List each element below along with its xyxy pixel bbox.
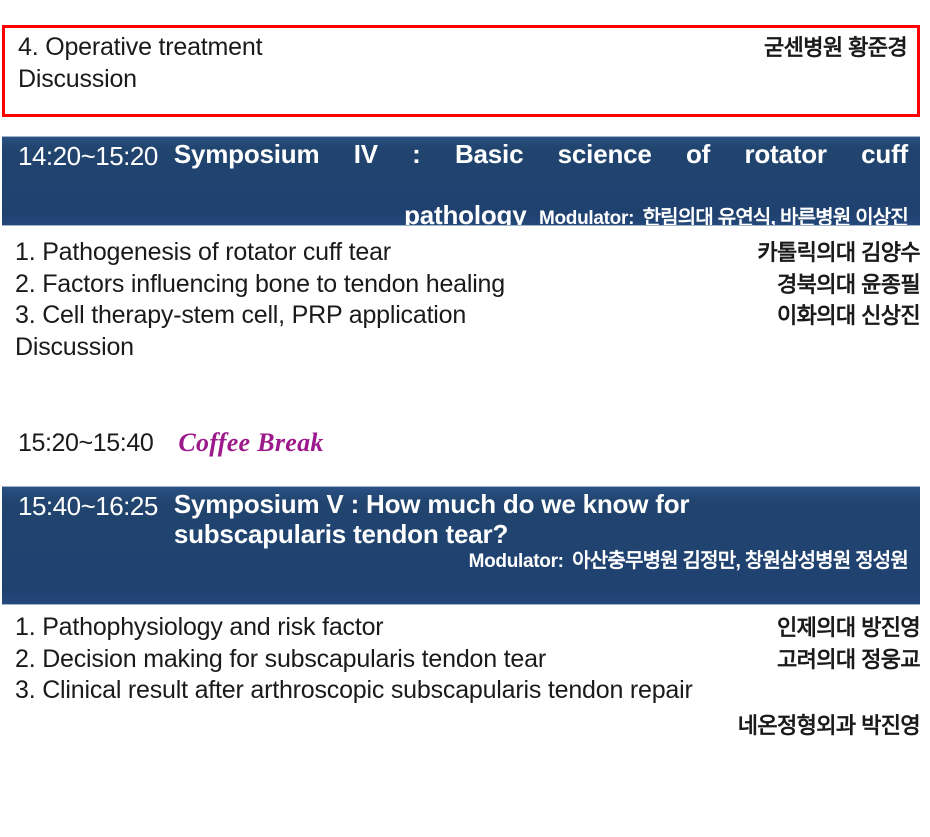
session-item-speaker: 이화의대 신상진	[759, 303, 920, 329]
symposium-5-title-line2: subscapularis tendon tear?	[174, 520, 908, 550]
list-item: 2. Factors influencing bone to tendon he…	[15, 269, 920, 301]
symposium-5-header-grid: 15:40~16:25 Symposium V : How much do we…	[2, 487, 920, 578]
symposium-5-item-list: 1. Pathophysiology and risk factor 인제의대 …	[2, 612, 920, 741]
session-item-speaker: 네온정형외과 박진영	[15, 707, 920, 741]
session-item-title: 3. Cell therapy-stem cell, PRP applicati…	[15, 301, 466, 331]
program-schedule-page: 4. Operative treatment 굳센병원 황준경 Discussi…	[0, 0, 930, 837]
list-item: 1. Pathogenesis of rotator cuff tear 카톨릭…	[15, 237, 920, 269]
coffee-break-time: 15:20~15:40	[2, 429, 153, 458]
symposium-4-time: 14:20~15:20	[18, 140, 158, 172]
session-item-title: 2. Decision making for subscapularis ten…	[15, 645, 546, 675]
list-item: 1. Pathophysiology and risk factor 인제의대 …	[15, 612, 920, 644]
highlighted-session-block: 4. Operative treatment 굳센병원 황준경 Discussi…	[2, 25, 920, 117]
session-item-speaker: 굳센병원 황준경	[746, 35, 907, 61]
highlighted-session-content: 4. Operative treatment 굳센병원 황준경 Discussi…	[5, 28, 917, 95]
symposium-5-modulator-names: 아산충무병원 김정만, 창원삼성병원 정성원	[568, 550, 908, 572]
symposium-4-header-bar: 14:20~15:20 Symposium IV : Basic science…	[2, 136, 920, 226]
list-item: 4. Operative treatment 굳센병원 황준경	[18, 32, 907, 64]
list-item: 3. Cell therapy-stem cell, PRP applicati…	[15, 300, 920, 332]
symposium-5-time: 15:40~16:25	[18, 490, 158, 522]
session-item-speaker: 경북의대 윤종필	[759, 272, 920, 298]
list-item: 2. Decision making for subscapularis ten…	[15, 644, 920, 676]
session-item-title: 4. Operative treatment	[18, 33, 262, 63]
coffee-break-row: 15:20~15:40 Coffee Break	[2, 428, 920, 458]
symposium-4-modulator-names: 한림의대 유연식, 바른병원 이상진	[639, 207, 908, 226]
session-item-title: 1. Pathogenesis of rotator cuff tear	[15, 238, 391, 268]
discussion-label: Discussion	[18, 64, 907, 96]
discussion-label: Discussion	[15, 332, 920, 364]
symposium-4-title-line2: pathology	[404, 200, 526, 226]
symposium-4-title-line2-row: pathology Modulator: 한림의대 유연식, 바른병원 이상진	[174, 199, 908, 226]
symposium-4-header-body: Symposium IV : Basic science of rotator …	[158, 140, 908, 226]
symposium-5-header-bar: 15:40~16:25 Symposium V : How much do we…	[2, 486, 920, 605]
symposium-5-modulator-row: Modulator: 아산충무병원 김정만, 창원삼성병원 정성원	[174, 549, 908, 574]
session-item-title: 1. Pathophysiology and risk factor	[15, 613, 383, 643]
symposium-4-modulator-label: Modulator:	[531, 208, 634, 226]
session-item-title: 3. Clinical result after arthroscopic su…	[15, 675, 920, 707]
coffee-break-label: Coffee Break	[153, 428, 323, 458]
symposium-5-modulator-label: Modulator:	[461, 551, 564, 572]
symposium-4-item-list: 1. Pathogenesis of rotator cuff tear 카톨릭…	[2, 237, 920, 363]
session-item-speaker: 인제의대 방진영	[759, 615, 920, 641]
symposium-4-title-line1: Symposium IV : Basic science of rotator …	[174, 140, 908, 199]
symposium-4-header-grid: 14:20~15:20 Symposium IV : Basic science…	[2, 137, 920, 226]
session-item-speaker: 카톨릭의대 김양수	[739, 240, 920, 266]
session-item-title: 2. Factors influencing bone to tendon he…	[15, 270, 505, 300]
symposium-4-modulator-row: pathology Modulator: 한림의대 유연식, 바른병원 이상진	[174, 199, 908, 226]
symposium-5-header-body: Symposium V : How much do we know for su…	[158, 490, 908, 574]
session-item-speaker: 고려의대 정웅교	[759, 647, 920, 673]
symposium-5-title-line1: Symposium V : How much do we know for	[174, 490, 908, 520]
